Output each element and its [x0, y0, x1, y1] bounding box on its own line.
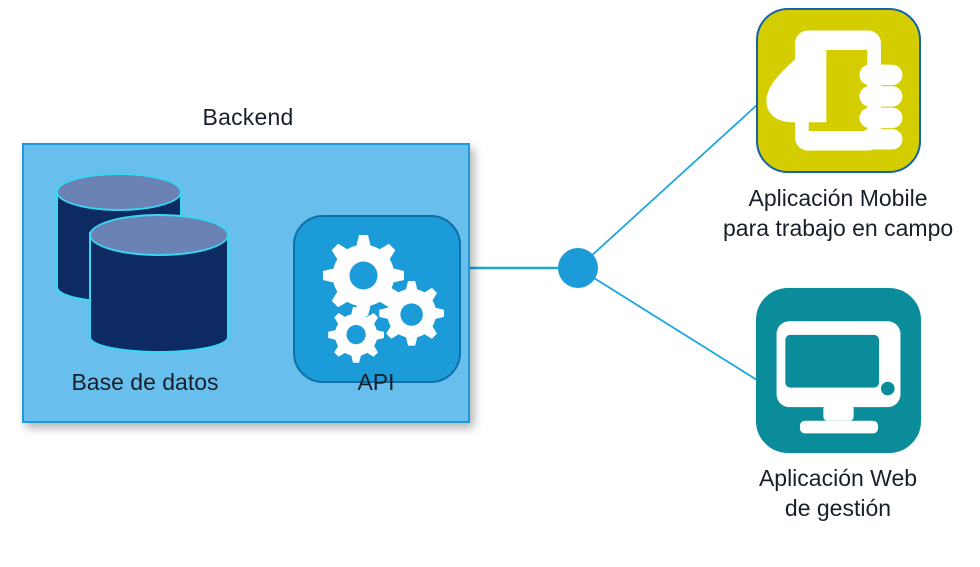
connector-hub-node[interactable] — [558, 248, 598, 288]
web-app-node: Aplicación Web de gestión — [723, 288, 953, 523]
backend-group: Backend Base de datos — [22, 104, 474, 429]
mobile-app-caption-line1: Aplicación Mobile — [723, 183, 953, 213]
backend-panel: Base de datos — [22, 143, 470, 423]
desktop-monitor-icon — [758, 290, 919, 451]
web-app-caption: Aplicación Web de gestión — [723, 463, 953, 523]
cylinder-top — [89, 214, 229, 256]
mobile-app-node: Aplicación Mobile para trabajo en campo — [723, 8, 953, 243]
backend-title: Backend — [22, 104, 474, 131]
database-cylinder-front — [89, 214, 229, 353]
mobile-app-tile[interactable] — [756, 8, 921, 173]
diagram-canvas: Backend Base de datos — [0, 0, 980, 567]
api-label: API — [286, 369, 466, 396]
web-app-caption-line2: de gestión — [723, 493, 953, 523]
database-label: Base de datos — [34, 369, 256, 396]
hand-holding-phone-icon — [758, 10, 919, 171]
gears-icon — [307, 227, 451, 371]
database-cylinders-icon — [56, 173, 238, 353]
mobile-app-caption-line2: para trabajo en campo — [723, 213, 953, 243]
web-app-tile[interactable] — [756, 288, 921, 453]
api-tile[interactable] — [293, 215, 461, 383]
mobile-app-caption: Aplicación Mobile para trabajo en campo — [723, 183, 953, 243]
web-app-caption-line1: Aplicación Web — [723, 463, 953, 493]
cylinder-top — [56, 173, 182, 211]
